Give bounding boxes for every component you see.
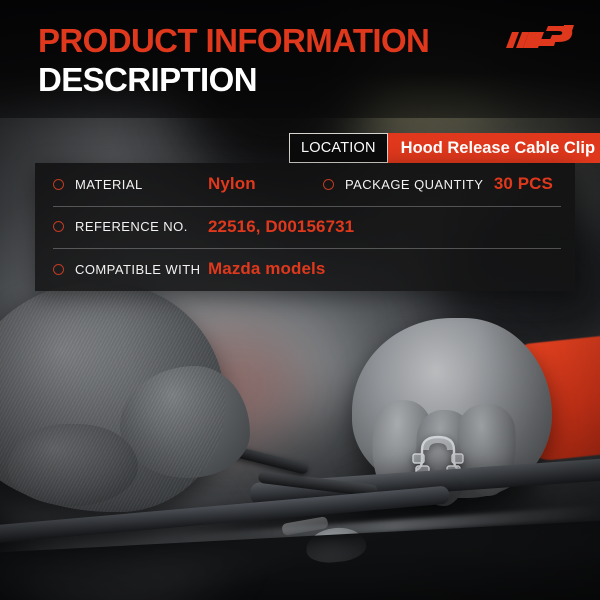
spec-row-material: MATERIAL Nylon PACKAGE QUANTITY 30 PCS — [35, 163, 575, 206]
ap-brand-logo-icon — [504, 22, 576, 64]
spec-value-material: Nylon — [208, 174, 256, 194]
spec-value-reference-no: 22516, D00156731 — [208, 217, 354, 237]
spec-label-reference-no: REFERENCE NO. — [75, 219, 188, 234]
spec-label-reference-no-cell: REFERENCE NO. — [53, 219, 208, 234]
location-value: Hood Release Cable Clip — [388, 133, 600, 163]
spec-value-package-quantity: 30 PCS — [494, 174, 553, 194]
title-line-description: DESCRIPTION — [38, 63, 429, 97]
spec-value-compatible-with-cell: Mazda models — [208, 259, 557, 279]
bullet-circle-icon — [53, 221, 64, 232]
spec-value-package-quantity-cell: 30 PCS — [483, 174, 557, 194]
spec-label-compatible-with-cell: COMPATIBLE WITH — [53, 262, 208, 277]
title-line-product-information: PRODUCT INFORMATION — [38, 24, 429, 58]
product-information-graphic: PRODUCT INFORMATION DESCRIPTION LOCATION… — [0, 0, 600, 600]
location-label: LOCATION — [289, 133, 388, 163]
spec-value-material-cell: Nylon — [208, 174, 323, 194]
spec-label-compatible-with: COMPATIBLE WITH — [75, 262, 200, 277]
bullet-circle-icon — [53, 179, 64, 190]
specification-panel: MATERIAL Nylon PACKAGE QUANTITY 30 PCS R… — [35, 163, 575, 291]
page-title: PRODUCT INFORMATION DESCRIPTION — [38, 24, 429, 96]
location-badge: LOCATION Hood Release Cable Clip — [289, 133, 600, 163]
bullet-circle-icon — [53, 264, 64, 275]
spec-label-package-quantity-cell: PACKAGE QUANTITY — [323, 177, 483, 192]
spec-value-compatible-with: Mazda models — [208, 259, 325, 279]
spec-value-reference-no-cell: 22516, D00156731 — [208, 217, 557, 237]
spec-label-package-quantity: PACKAGE QUANTITY — [345, 177, 483, 192]
spec-row-reference-no: REFERENCE NO. 22516, D00156731 — [35, 206, 575, 249]
spec-label-material-cell: MATERIAL — [53, 177, 208, 192]
bullet-circle-icon — [323, 179, 334, 190]
spec-label-material: MATERIAL — [75, 177, 143, 192]
spec-row-compatible-with: COMPATIBLE WITH Mazda models — [35, 248, 575, 291]
